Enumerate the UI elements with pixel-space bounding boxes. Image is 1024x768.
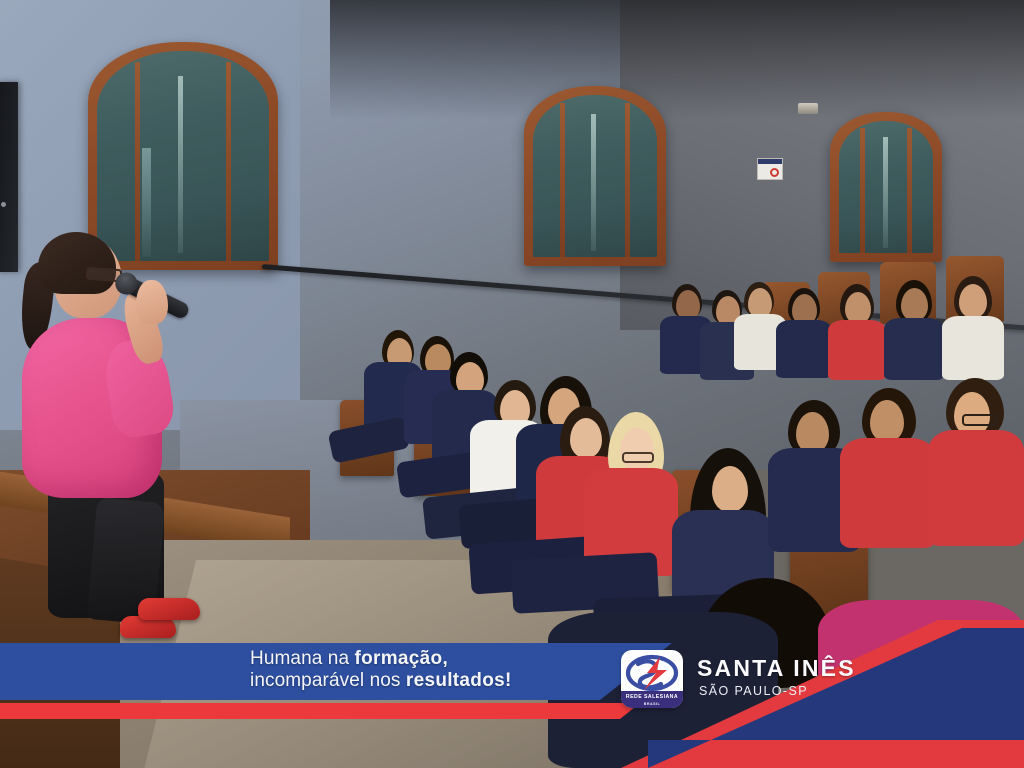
- tagline-line-1-bold: formação,: [355, 648, 449, 669]
- student-body: [840, 438, 936, 548]
- window-reflection: [178, 76, 183, 252]
- no-smoking-sign: [757, 158, 783, 180]
- tagline-line-2-bold: resultados!: [406, 670, 512, 691]
- tagline-line-2: incomparável nos resultados!: [250, 670, 570, 692]
- ceiling-shadow: [330, 0, 1024, 120]
- student-head: [901, 288, 928, 321]
- student-body: [828, 320, 886, 380]
- sign-prohibition-icon: [770, 168, 779, 177]
- student-body: [928, 430, 1024, 546]
- window-mullion: [907, 128, 912, 253]
- student-head: [570, 418, 602, 458]
- student-head: [712, 466, 748, 512]
- student-glasses: [622, 452, 654, 463]
- screenshot-root: Humana na formação, incomparável nos res…: [0, 0, 1024, 768]
- window-reflection: [883, 137, 888, 248]
- speaker-hand: [136, 280, 168, 324]
- window-reflection: [591, 114, 596, 250]
- window-mullion: [135, 62, 140, 262]
- student-head: [796, 412, 829, 453]
- window-glass: [533, 95, 657, 257]
- school-name: SANTA INÊS: [697, 655, 856, 682]
- tagline-line-1: Humana na formação,: [250, 648, 570, 670]
- school-city: SÃO PAULO-SP: [699, 684, 808, 698]
- sign-header-bar: [758, 159, 782, 164]
- student-body: [884, 318, 944, 380]
- student-glasses: [962, 414, 998, 426]
- banner-tagline: Humana na formação, incomparável nos res…: [250, 648, 570, 691]
- wall-lamp: [798, 103, 818, 114]
- window-mullion: [860, 128, 865, 253]
- student-head: [870, 400, 904, 442]
- window-mullion: [560, 103, 565, 257]
- arched-window-2: [524, 86, 666, 266]
- student-head: [620, 428, 654, 470]
- tagline-line-2-plain: incomparável nos: [250, 670, 406, 691]
- rede-salesiana-logo: REDE SALESIANA BRASIL: [621, 650, 683, 708]
- arched-window-3: [830, 112, 942, 262]
- window-mullion: [625, 103, 630, 257]
- tagline-line-1-plain: Humana na: [250, 648, 355, 669]
- banner-red-stripe: [0, 703, 640, 719]
- salesiana-swirl-icon: [625, 653, 679, 693]
- student-body: [776, 320, 832, 378]
- logo-network-name: REDE SALESIANA: [621, 691, 683, 702]
- student-head: [959, 284, 987, 318]
- student-body: [942, 316, 1004, 380]
- window-mullion: [226, 62, 231, 262]
- arched-window-1: [88, 42, 278, 270]
- logo-network-country: BRASIL: [621, 702, 683, 707]
- window-glass: [97, 51, 269, 261]
- wall-dark-panel: [0, 82, 18, 272]
- logo-network-footer: REDE SALESIANA BRASIL: [621, 691, 683, 708]
- window-glass: [839, 121, 933, 253]
- speaker-shoe: [138, 598, 200, 620]
- window-reflection: [142, 148, 151, 257]
